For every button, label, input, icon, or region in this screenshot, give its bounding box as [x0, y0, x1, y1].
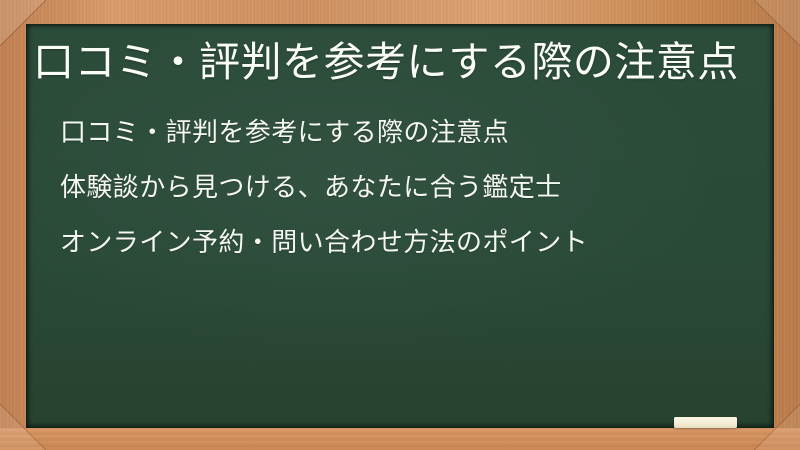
chalkboard-slide: 口コミ・評判を参考にする際の注意点 口コミ・評判を参考にする際の注意点 体験談か…: [0, 0, 800, 450]
bullet-line-1: 口コミ・評判を参考にする際の注意点: [60, 106, 764, 161]
chalk-stick: [674, 417, 737, 428]
bullet-line-3: オンライン予約・問い合わせ方法のポイント: [60, 216, 764, 271]
slide-title: 口コミ・評判を参考にする際の注意点: [33, 36, 764, 88]
bullet-list: 口コミ・評判を参考にする際の注意点 体験談から見つける、あなたに合う鑑定士 オン…: [60, 106, 764, 271]
chalkboard: 口コミ・評判を参考にする際の注意点 口コミ・評判を参考にする際の注意点 体験談か…: [26, 24, 774, 428]
chalkboard-surface: 口コミ・評判を参考にする際の注意点 口コミ・評判を参考にする際の注意点 体験談か…: [26, 24, 774, 428]
chalk-ledge: [0, 428, 800, 450]
bullet-line-2: 体験談から見つける、あなたに合う鑑定士: [60, 161, 764, 216]
